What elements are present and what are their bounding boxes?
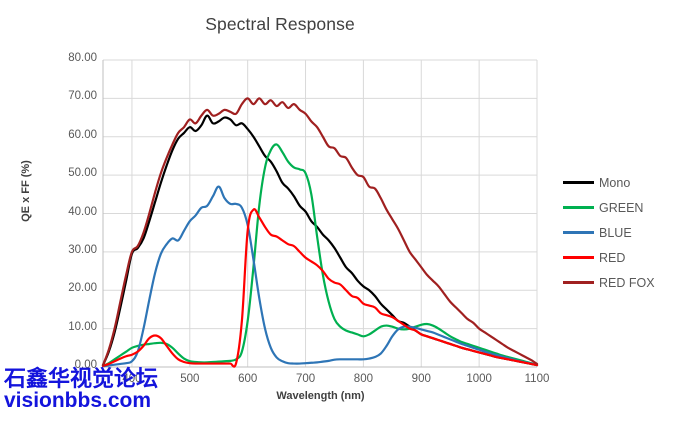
x-axis-tick-label: 400 bbox=[102, 373, 162, 385]
y-axis-tick-label: 20.00 bbox=[51, 282, 97, 294]
legend-swatch-icon bbox=[563, 281, 594, 284]
y-axis-tick-label: 10.00 bbox=[51, 321, 97, 333]
legend-item-label: RED FOX bbox=[599, 276, 655, 290]
chart-title: Spectral Response bbox=[0, 14, 560, 35]
x-axis-tick-label: 1100 bbox=[507, 373, 567, 385]
chart-legend: MonoGREENBLUEREDRED FOX bbox=[563, 170, 655, 295]
y-axis-tick-label: 60.00 bbox=[51, 129, 97, 141]
legend-item-label: Mono bbox=[599, 176, 630, 190]
x-axis-tick-label: 500 bbox=[160, 373, 220, 385]
legend-item-red-fox[interactable]: RED FOX bbox=[563, 270, 655, 295]
legend-swatch-icon bbox=[563, 181, 594, 184]
legend-item-label: RED bbox=[599, 251, 625, 265]
x-axis-label: Wavelength (nm) bbox=[103, 390, 538, 402]
y-axis-label: QE x FF (%) bbox=[20, 121, 32, 261]
legend-item-blue[interactable]: BLUE bbox=[563, 220, 655, 245]
x-axis-tick-label: 900 bbox=[391, 373, 451, 385]
legend-swatch-icon bbox=[563, 256, 594, 259]
x-axis-tick-label: 700 bbox=[276, 373, 336, 385]
y-axis-tick-label: 40.00 bbox=[51, 206, 97, 218]
y-axis-tick-label: 80.00 bbox=[51, 52, 97, 64]
y-axis-tick-label: 0.00 bbox=[51, 359, 97, 371]
y-axis-tick-label: 70.00 bbox=[51, 90, 97, 102]
x-axis-tick-label: 1000 bbox=[449, 373, 509, 385]
legend-swatch-icon bbox=[563, 231, 594, 234]
series-line-red bbox=[103, 209, 537, 366]
legend-item-green[interactable]: GREEN bbox=[563, 195, 655, 220]
x-axis-tick-label: 800 bbox=[333, 373, 393, 385]
series-lines bbox=[103, 98, 537, 366]
legend-item-label: GREEN bbox=[599, 201, 643, 215]
legend-item-mono[interactable]: Mono bbox=[563, 170, 655, 195]
spectral-response-chart: Spectral Response QE x FF (%) Wavelength… bbox=[0, 0, 690, 428]
series-line-green bbox=[103, 144, 537, 365]
legend-item-red[interactable]: RED bbox=[563, 245, 655, 270]
legend-swatch-icon bbox=[563, 206, 594, 209]
legend-item-label: BLUE bbox=[599, 226, 632, 240]
y-axis-tick-label: 30.00 bbox=[51, 244, 97, 256]
y-axis-tick-label: 50.00 bbox=[51, 167, 97, 179]
x-axis-tick-label: 600 bbox=[218, 373, 278, 385]
